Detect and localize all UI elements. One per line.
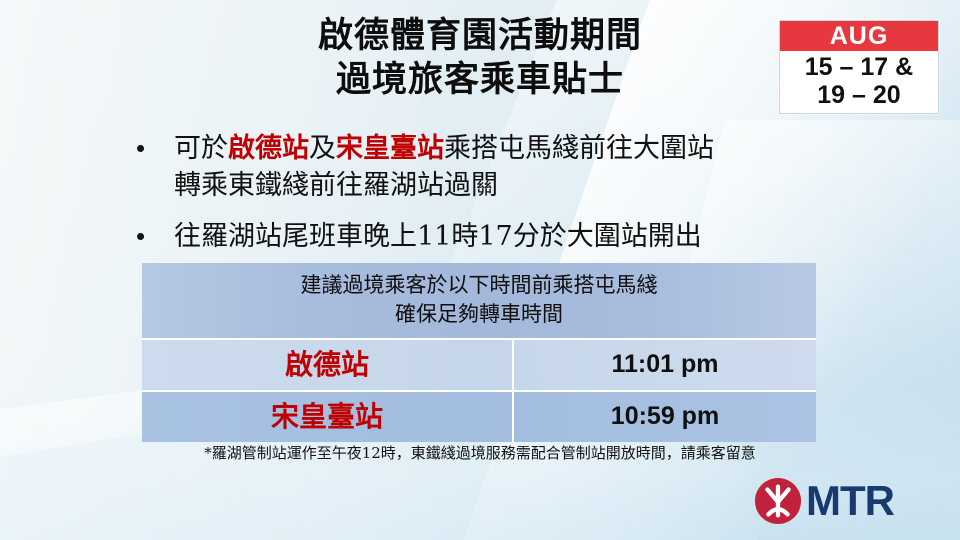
bullet-1-station-kai-tak: 啟德站 [228, 133, 309, 164]
bullet-item-1-text: 可於啟德站及宋皇臺站乘搭屯馬綫前往大圍站 轉乘東鐵綫前往羅湖站過關 [174, 130, 714, 204]
table-header: 建議過境乘客於以下時間前乘搭屯馬綫 確保足夠轉車時間 [142, 263, 816, 338]
mtr-logo: MTR [754, 477, 894, 525]
bullet-1-seg-2: 及 [309, 133, 336, 164]
date-badge-days: 15 – 17 & 19 – 20 [780, 51, 938, 113]
bullet-list: • 可於啟德站及宋皇臺站乘搭屯馬綫前往大圍站 轉乘東鐵綫前往羅湖站過關 • 往羅… [128, 130, 888, 269]
table-header-line-2: 確保足夠轉車時間 [142, 300, 816, 329]
mtr-wordmark: MTR [806, 479, 894, 523]
bullet-marker: • [128, 218, 174, 255]
table-header-line-1: 建議過境乘客於以下時間前乘搭屯馬綫 [142, 271, 816, 300]
date-badge-days-line-1: 15 – 17 & [780, 53, 938, 81]
bullet-item-2-text: 往羅湖站尾班車晚上11時17分於大圍站開出 [174, 218, 702, 255]
table-cell-station: 啟德站 [142, 340, 514, 390]
footnote: *羅湖管制站運作至午夜12時，東鐵綫過境服務需配合管制站開放時間，請乘客留意 [0, 443, 960, 463]
bullet-marker: • [128, 130, 174, 167]
date-badge: AUG 15 – 17 & 19 – 20 [779, 20, 939, 114]
table-row: 啟德站 11:01 pm [142, 338, 816, 390]
bullet-1-line-2: 轉乘東鐵綫前往羅湖站過關 [174, 170, 498, 201]
bullet-1-station-sung-wong-toi: 宋皇臺站 [336, 133, 444, 164]
table-cell-station: 宋皇臺站 [142, 392, 514, 442]
table-row: 宋皇臺站 10:59 pm [142, 390, 816, 442]
poster-slide: 啟德體育園活動期間 過境旅客乘車貼士 AUG 15 – 17 & 19 – 20… [0, 0, 960, 540]
bullet-1-seg-4: 乘搭屯馬綫前往大圍站 [444, 133, 714, 164]
date-badge-days-line-2: 19 – 20 [780, 81, 938, 109]
departure-time-table: 建議過境乘客於以下時間前乘搭屯馬綫 確保足夠轉車時間 啟德站 11:01 pm … [142, 263, 816, 442]
bullet-item-2: • 往羅湖站尾班車晚上11時17分於大圍站開出 [128, 218, 888, 255]
mtr-roundel-icon [754, 477, 802, 525]
table-cell-time: 11:01 pm [514, 340, 816, 390]
bullet-1-seg-0: 可於 [174, 133, 228, 164]
bullet-2-seg-0: 往羅湖站尾班車晚上11時17分於大圍站開出 [174, 221, 702, 252]
table-cell-time: 10:59 pm [514, 392, 816, 442]
bullet-item-1: • 可於啟德站及宋皇臺站乘搭屯馬綫前往大圍站 轉乘東鐵綫前往羅湖站過關 [128, 130, 888, 204]
date-badge-month: AUG [780, 21, 938, 51]
